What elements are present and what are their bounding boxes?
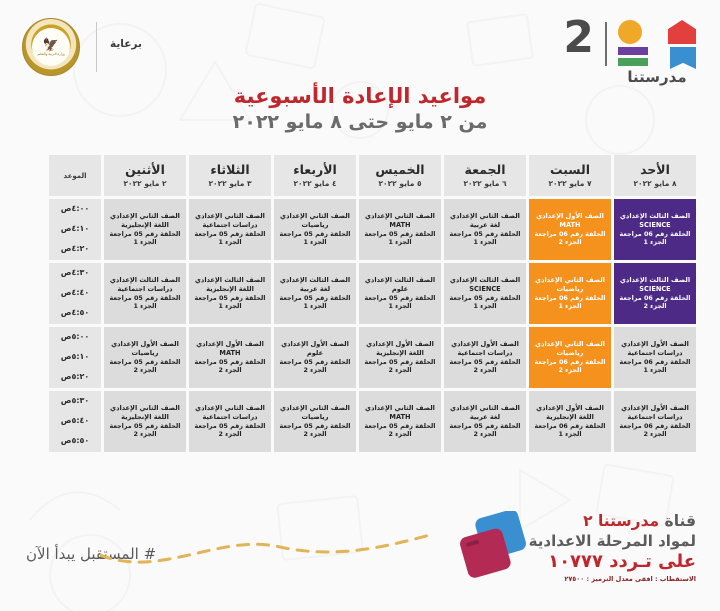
schedule-cell[interactable]: الصف الثاني الإعدادياللغة الإنجليزيةالحل… bbox=[104, 199, 186, 260]
cell-grade: الصف الأول الإعدادي bbox=[615, 404, 695, 413]
cell-part: الجزء 1 bbox=[615, 238, 695, 247]
cell-part: الجزء 1 bbox=[530, 430, 610, 439]
cell-episode: الحلقة رقم 05 مراجعة bbox=[445, 358, 525, 367]
schedule-cell[interactable]: الصف الثاني الإعداديدراسات اجتماعيةالحلق… bbox=[189, 199, 271, 260]
cell-subject: MATH bbox=[190, 349, 270, 358]
schedule-cell[interactable]: الصف الأول الإعداديMATHالحلقة رقم 05 مرا… bbox=[189, 327, 271, 388]
cell-episode: الحلقة رقم 05 مراجعة bbox=[275, 422, 355, 431]
schedule-table: الأحد٨ مايو ٢٠٢٢السبت٧ مايو ٢٠٢٢الجمعة٦ … bbox=[46, 152, 699, 455]
cell-grade: الصف الأول الإعدادي bbox=[105, 340, 185, 349]
cell-part: الجزء 2 bbox=[190, 366, 270, 375]
time-stack: ٤:٣٠ص٤:٤٠ص٤:٥٠ص bbox=[49, 263, 101, 324]
cell-grade: الصف الأول الإعدادي bbox=[275, 340, 355, 349]
cell-grade: الصف الثاني الإعدادي bbox=[530, 276, 610, 285]
seal-inner: 🦅 وزارة التربية والتعليم bbox=[32, 28, 70, 66]
time-value: ٤:٤٠ص bbox=[49, 287, 101, 300]
house-icon bbox=[668, 20, 696, 44]
cell-part: الجزء 2 bbox=[530, 238, 610, 247]
cell-subject: اللغة الإنجليزية bbox=[530, 413, 610, 422]
cell-subject: دراسات اجتماعية bbox=[445, 349, 525, 358]
cell-subject: دراسات اجتماعية bbox=[615, 349, 695, 358]
schedule-cell[interactable]: الصف الثاني الإعداديرياضياتالحلقة رقم 06… bbox=[529, 327, 611, 388]
day-name: الأثنين bbox=[106, 162, 184, 177]
cell-subject: لغة عربية bbox=[445, 413, 525, 422]
day-header-7: الأثنين٢ مايو ٢٠٢٢ bbox=[104, 155, 186, 196]
cell-subject: رياضيات bbox=[275, 413, 355, 422]
schedule-cell[interactable]: الصف الأول الإعداديدراسات اجتماعيةالحلقة… bbox=[614, 327, 696, 388]
page-header: 🦅 وزارة التربية والتعليم برعاية 2 مدرستن… bbox=[0, 0, 720, 92]
cell-subject: لغة عربية bbox=[445, 221, 525, 230]
cell-grade: الصف الثالث الإعدادي bbox=[360, 276, 440, 285]
schedule-cell[interactable]: الصف الثاني الإعداديMATHالحلقة رقم 05 مر… bbox=[359, 199, 441, 260]
cell-subject: دراسات اجتماعية bbox=[190, 221, 270, 230]
channel-line-brand: مدرستنا ٢ bbox=[583, 512, 659, 530]
schedule-row: الصف الثالث الإعداديSCIENCEالحلقة رقم 06… bbox=[49, 263, 696, 324]
cell-subject: دراسات اجتماعية bbox=[190, 413, 270, 422]
cell-subject: دراسات اجتماعية bbox=[615, 413, 695, 422]
cell-grade: الصف الأول الإعدادي bbox=[530, 404, 610, 413]
cell-part: الجزء 2 bbox=[445, 430, 525, 439]
ministry-seal-logo: 🦅 وزارة التربية والتعليم bbox=[22, 18, 80, 76]
cell-subject: SCIENCE bbox=[615, 221, 695, 230]
day-name: الأربعاء bbox=[276, 162, 354, 177]
cell-episode: الحلقة رقم 05 مراجعة bbox=[105, 294, 185, 303]
cell-grade: الصف الثاني الإعدادي bbox=[275, 404, 355, 413]
time-value: ٥:٢٠ص bbox=[49, 371, 101, 384]
madrasatna-brand-logo: مدرستنا bbox=[618, 20, 696, 86]
cell-episode: الحلقة رقم 06 مراجعة bbox=[530, 422, 610, 431]
schedule-cell[interactable]: الصف الثاني الإعداديMATHالحلقة رقم 05 مر… bbox=[359, 391, 441, 452]
cell-part: الجزء 2 bbox=[615, 302, 695, 311]
cell-part: الجزء 2 bbox=[615, 430, 695, 439]
cell-episode: الحلقة رقم 05 مراجعة bbox=[190, 358, 270, 367]
cell-grade: الصف الثاني الإعدادي bbox=[275, 212, 355, 221]
time-stack: ٥:٠٠ص٥:١٠ص٥:٢٠ص bbox=[49, 327, 101, 388]
day-header-1: الأحد٨ مايو ٢٠٢٢ bbox=[614, 155, 696, 196]
bars-icon bbox=[618, 47, 656, 69]
cell-episode: الحلقة رقم 06 مراجعة bbox=[615, 422, 695, 431]
cell-subject: رياضيات bbox=[530, 285, 610, 294]
schedule-row: الصف الأول الإعداديدراسات اجتماعيةالحلقة… bbox=[49, 327, 696, 388]
time-cell: ٥:٠٠ص٥:١٠ص٥:٢٠ص bbox=[49, 327, 101, 388]
cell-subject: علوم bbox=[360, 285, 440, 294]
schedule-cell[interactable]: الصف الأول الإعداديدراسات اجتماعيةالحلقة… bbox=[444, 327, 526, 388]
schedule-row: الصف الثالث الإعداديSCIENCEالحلقة رقم 06… bbox=[49, 199, 696, 260]
channel-divider bbox=[605, 22, 607, 66]
cell-part: الجزء 2 bbox=[190, 430, 270, 439]
cell-grade: الصف الثاني الإعدادي bbox=[445, 212, 525, 221]
day-header-5: الأربعاء٤ مايو ٢٠٢٢ bbox=[274, 155, 356, 196]
cell-grade: الصف الأول الإعدادي bbox=[445, 340, 525, 349]
cell-grade: الصف الأول الإعدادي bbox=[530, 212, 610, 221]
cell-episode: الحلقة رقم 05 مراجعة bbox=[105, 358, 185, 367]
schedule-cell[interactable]: الصف الأول الإعداديMATHالحلقة رقم 06 مرا… bbox=[529, 199, 611, 260]
day-header-4: الخميس٥ مايو ٢٠٢٢ bbox=[359, 155, 441, 196]
day-header-row: الأحد٨ مايو ٢٠٢٢السبت٧ مايو ٢٠٢٢الجمعة٦ … bbox=[49, 155, 696, 196]
cell-episode: الحلقة رقم 05 مراجعة bbox=[360, 230, 440, 239]
cell-part: الجزء 2 bbox=[360, 366, 440, 375]
cell-episode: الحلقة رقم 05 مراجعة bbox=[360, 422, 440, 431]
schedule-cell[interactable]: الصف الثاني الإعدادياللغة الإنجليزيةالحل… bbox=[104, 391, 186, 452]
day-name: الأحد bbox=[616, 162, 694, 177]
cell-part: الجزء 2 bbox=[360, 430, 440, 439]
cell-part: الجزء 1 bbox=[275, 238, 355, 247]
cell-part: الجزء 1 bbox=[360, 238, 440, 247]
schedule-cell[interactable]: الصف الثالث الإعداديدراسات اجتماعيةالحلق… bbox=[104, 263, 186, 324]
day-name: الخميس bbox=[361, 162, 439, 177]
schedule-cell[interactable]: الصف الأول الإعدادياللغة الإنجليزيةالحلق… bbox=[359, 327, 441, 388]
day-header-6: الثلاثاء٣ مايو ٢٠٢٢ bbox=[189, 155, 271, 196]
schedule-head: الأحد٨ مايو ٢٠٢٢السبت٧ مايو ٢٠٢٢الجمعة٦ … bbox=[49, 155, 696, 196]
cell-part: الجزء 2 bbox=[445, 366, 525, 375]
cell-grade: الصف الثالث الإعدادي bbox=[445, 276, 525, 285]
time-column-header: الموعد bbox=[49, 155, 101, 196]
cell-part: الجزء 2 bbox=[105, 430, 185, 439]
cell-part: الجزء 2 bbox=[105, 366, 185, 375]
cell-grade: الصف الثالث الإعدادي bbox=[275, 276, 355, 285]
cell-episode: الحلقة رقم 05 مراجعة bbox=[190, 422, 270, 431]
channel-line-prefix: قناة bbox=[659, 512, 696, 530]
cell-grade: الصف الثالث الإعدادي bbox=[190, 276, 270, 285]
day-name: السبت bbox=[531, 162, 609, 177]
cell-grade: الصف الأول الإعدادي bbox=[360, 340, 440, 349]
time-value: ٤:٠٠ص bbox=[49, 203, 101, 216]
cell-subject: SCIENCE bbox=[445, 285, 525, 294]
cell-subject: لغة عربية bbox=[275, 285, 355, 294]
schedule-body: الصف الثالث الإعداديSCIENCEالحلقة رقم 06… bbox=[49, 199, 696, 452]
day-date: ٧ مايو ٢٠٢٢ bbox=[531, 179, 609, 188]
day-date: ٨ مايو ٢٠٢٢ bbox=[616, 179, 694, 188]
cell-part: الجزء 1 bbox=[275, 302, 355, 311]
page-title: مواعيد الإعادة الأسبوعية bbox=[0, 84, 720, 108]
day-date: ٢ مايو ٢٠٢٢ bbox=[106, 179, 184, 188]
cell-part: الجزء 1 bbox=[190, 302, 270, 311]
cell-episode: الحلقة رقم 05 مراجعة bbox=[105, 230, 185, 239]
schedule-cell[interactable]: الصف الثاني الإعداديرياضياتالحلقة رقم 05… bbox=[274, 199, 356, 260]
cell-subject: رياضيات bbox=[105, 349, 185, 358]
cell-subject: اللغة الإنجليزية bbox=[105, 413, 185, 422]
time-value: ٤:٥٠ص bbox=[49, 307, 101, 320]
cell-episode: الحلقة رقم 05 مراجعة bbox=[445, 294, 525, 303]
day-date: ٥ مايو ٢٠٢٢ bbox=[361, 179, 439, 188]
day-name: الثلاثاء bbox=[191, 162, 269, 177]
time-stack: ٥:٣٠ص٥:٤٠ص٥:٥٠ص bbox=[49, 391, 101, 452]
cell-part: الجزء 2 bbox=[275, 366, 355, 375]
channel-number: 2 bbox=[563, 16, 594, 60]
cell-grade: الصف الثاني الإعدادي bbox=[105, 212, 185, 221]
header-divider bbox=[96, 22, 97, 72]
schedule-row: الصف الأول الإعداديدراسات اجتماعيةالحلقة… bbox=[49, 391, 696, 452]
cell-grade: الصف الثاني الإعدادي bbox=[360, 212, 440, 221]
dashed-curve-icon bbox=[100, 521, 430, 581]
cell-episode: الحلقة رقم 06 مراجعة bbox=[530, 294, 610, 303]
cell-episode: الحلقة رقم 05 مراجعة bbox=[275, 294, 355, 303]
day-date: ٦ مايو ٢٠٢٢ bbox=[446, 179, 524, 188]
cell-grade: الصف الثالث الإعدادي bbox=[615, 212, 695, 221]
day-header-3: الجمعة٦ مايو ٢٠٢٢ bbox=[444, 155, 526, 196]
schedule-cell[interactable]: الصف الثاني الإعداديدراسات اجتماعيةالحلق… bbox=[189, 391, 271, 452]
cell-grade: الصف الأول الإعدادي bbox=[615, 340, 695, 349]
cell-subject: MATH bbox=[360, 413, 440, 422]
sponsor-label: برعاية bbox=[110, 38, 142, 50]
time-value: ٤:٣٠ص bbox=[49, 267, 101, 280]
cell-part: الجزء 1 bbox=[105, 302, 185, 311]
time-value: ٥:٥٠ص bbox=[49, 435, 101, 448]
day-header-2: السبت٧ مايو ٢٠٢٢ bbox=[529, 155, 611, 196]
cell-episode: الحلقة رقم 05 مراجعة bbox=[445, 230, 525, 239]
cell-grade: الصف الثاني الإعدادي bbox=[190, 404, 270, 413]
cell-subject: MATH bbox=[530, 221, 610, 230]
cell-episode: الحلقة رقم 05 مراجعة bbox=[360, 294, 440, 303]
day-date: ٣ مايو ٢٠٢٢ bbox=[191, 179, 269, 188]
schedule-cell[interactable]: الصف الثالث الإعدادياللغة الإنجليزيةالحل… bbox=[189, 263, 271, 324]
cell-episode: الحلقة رقم 05 مراجعة bbox=[275, 230, 355, 239]
day-date: ٤ مايو ٢٠٢٢ bbox=[276, 179, 354, 188]
cell-episode: الحلقة رقم 06 مراجعة bbox=[615, 358, 695, 367]
cell-subject: MATH bbox=[360, 221, 440, 230]
cell-part: الجزء 1 bbox=[105, 238, 185, 247]
schedule-cell[interactable]: الصف الثاني الإعداديلغة عربيةالحلقة رقم … bbox=[444, 199, 526, 260]
bar-green bbox=[618, 58, 648, 66]
time-stack: ٤:٠٠ص٤:١٠ص٤:٢٠ص bbox=[49, 199, 101, 260]
flag-icon bbox=[670, 47, 696, 69]
cell-episode: الحلقة رقم 05 مراجعة bbox=[360, 358, 440, 367]
technical-details-line: الاستقطاب : افقى معدل الترميز : ٢٧٥٠٠ bbox=[529, 575, 696, 583]
cell-grade: الصف الثاني الإعدادي bbox=[190, 212, 270, 221]
cell-episode: الحلقة رقم 05 مراجعة bbox=[190, 230, 270, 239]
cell-episode: الحلقة رقم 06 مراجعة bbox=[615, 230, 695, 239]
eagle-emblem-icon: 🦅 bbox=[43, 39, 59, 52]
cell-subject: اللغة الإنجليزية bbox=[190, 285, 270, 294]
cell-subject: علوم bbox=[275, 349, 355, 358]
cell-subject: SCIENCE bbox=[615, 285, 695, 294]
schedule-cell[interactable]: الصف الثالث الإعداديSCIENCEالحلقة رقم 06… bbox=[614, 199, 696, 260]
time-cell: ٤:٣٠ص٤:٤٠ص٤:٥٠ص bbox=[49, 263, 101, 324]
cell-subject: اللغة الإنجليزية bbox=[360, 349, 440, 358]
schedule-cell[interactable]: الصف الثاني الإعداديرياضياتالحلقة رقم 06… bbox=[529, 263, 611, 324]
schedule-cell[interactable]: الصف الثالث الإعداديSCIENCEالحلقة رقم 06… bbox=[614, 263, 696, 324]
cell-episode: الحلقة رقم 05 مراجعة bbox=[190, 294, 270, 303]
channel-info-block: قناة مدرستنا ٢ لمواد المرحلة الاعدادية ع… bbox=[529, 512, 696, 583]
cell-part: الجزء 1 bbox=[360, 302, 440, 311]
schedule-cell[interactable]: الصف الثاني الإعداديلغة عربيةالحلقة رقم … bbox=[444, 391, 526, 452]
seal-text: وزارة التربية والتعليم bbox=[37, 52, 64, 56]
schedule-cell[interactable]: الصف الثالث الإعداديلغة عربيةالحلقة رقم … bbox=[274, 263, 356, 324]
cell-part: الجزء 2 bbox=[530, 366, 610, 375]
cell-part: الجزء 1 bbox=[530, 302, 610, 311]
schedule-cell[interactable]: الصف الأول الإعداديدراسات اجتماعيةالحلقة… bbox=[614, 391, 696, 452]
cell-subject: رياضيات bbox=[530, 349, 610, 358]
cell-episode: الحلقة رقم 06 مراجعة bbox=[530, 230, 610, 239]
time-cell: ٥:٣٠ص٥:٤٠ص٥:٥٠ص bbox=[49, 391, 101, 452]
circle-icon bbox=[618, 20, 642, 44]
time-value: ٥:٣٠ص bbox=[49, 395, 101, 408]
brand-icon-grid bbox=[618, 20, 696, 66]
cell-grade: الصف الأول الإعدادي bbox=[190, 340, 270, 349]
cell-grade: الصف الثاني الإعدادي bbox=[105, 404, 185, 413]
cell-subject: دراسات اجتماعية bbox=[105, 285, 185, 294]
schedule-cell[interactable]: الصف الثالث الإعداديعلومالحلقة رقم 05 مر… bbox=[359, 263, 441, 324]
schedule-cell[interactable]: الصف الأول الإعداديعلومالحلقة رقم 05 مرا… bbox=[274, 327, 356, 388]
page-footer: # المستقبل يبدأ الآن قناة مدرستنا ٢ لموا… bbox=[0, 493, 720, 611]
cell-episode: الحلقة رقم 05 مراجعة bbox=[105, 422, 185, 431]
cell-grade: الصف الثاني الإعدادي bbox=[445, 404, 525, 413]
cell-part: الجزء 1 bbox=[445, 238, 525, 247]
page-title-block: مواعيد الإعادة الأسبوعية من ٢ مايو حتى ٨… bbox=[0, 84, 720, 133]
cell-part: الجزء 1 bbox=[615, 366, 695, 375]
frequency-line: على تـردد ١٠٧٧٧ bbox=[529, 551, 696, 572]
page-title-daterange: من ٢ مايو حتى ٨ مايو ٢٠٢٢ bbox=[0, 111, 720, 133]
cell-episode: الحلقة رقم 06 مراجعة bbox=[530, 358, 610, 367]
schedule-cell[interactable]: الصف الأول الإعدادياللغة الإنجليزيةالحلق… bbox=[529, 391, 611, 452]
time-value: ٤:١٠ص bbox=[49, 223, 101, 236]
cell-grade: الصف الثاني الإعدادي bbox=[360, 404, 440, 413]
schedule-cell[interactable]: الصف الأول الإعداديرياضياتالحلقة رقم 05 … bbox=[104, 327, 186, 388]
time-value: ٥:١٠ص bbox=[49, 351, 101, 364]
cell-grade: الصف الثالث الإعدادي bbox=[105, 276, 185, 285]
time-cell: ٤:٠٠ص٤:١٠ص٤:٢٠ص bbox=[49, 199, 101, 260]
cell-episode: الحلقة رقم 06 مراجعة bbox=[615, 294, 695, 303]
stage-line: لمواد المرحلة الاعدادية bbox=[529, 532, 696, 550]
time-value: ٥:٠٠ص bbox=[49, 331, 101, 344]
cell-grade: الصف الثالث الإعدادي bbox=[615, 276, 695, 285]
time-value: ٥:٤٠ص bbox=[49, 415, 101, 428]
cell-grade: الصف الثاني الإعدادي bbox=[530, 340, 610, 349]
cell-part: الجزء 2 bbox=[275, 430, 355, 439]
schedule-cell[interactable]: الصف الثالث الإعداديSCIENCEالحلقة رقم 05… bbox=[444, 263, 526, 324]
cell-subject: رياضيات bbox=[275, 221, 355, 230]
time-value: ٤:٢٠ص bbox=[49, 243, 101, 256]
channel-line: قناة مدرستنا ٢ bbox=[529, 512, 696, 530]
cell-part: الجزء 1 bbox=[190, 238, 270, 247]
day-name: الجمعة bbox=[446, 162, 524, 177]
cell-part: الجزء 1 bbox=[445, 302, 525, 311]
cell-subject: اللغة الإنجليزية bbox=[105, 221, 185, 230]
bar-purple bbox=[618, 47, 648, 55]
schedule-cell[interactable]: الصف الثاني الإعداديرياضياتالحلقة رقم 05… bbox=[274, 391, 356, 452]
cell-episode: الحلقة رقم 05 مراجعة bbox=[275, 358, 355, 367]
cell-episode: الحلقة رقم 05 مراجعة bbox=[445, 422, 525, 431]
